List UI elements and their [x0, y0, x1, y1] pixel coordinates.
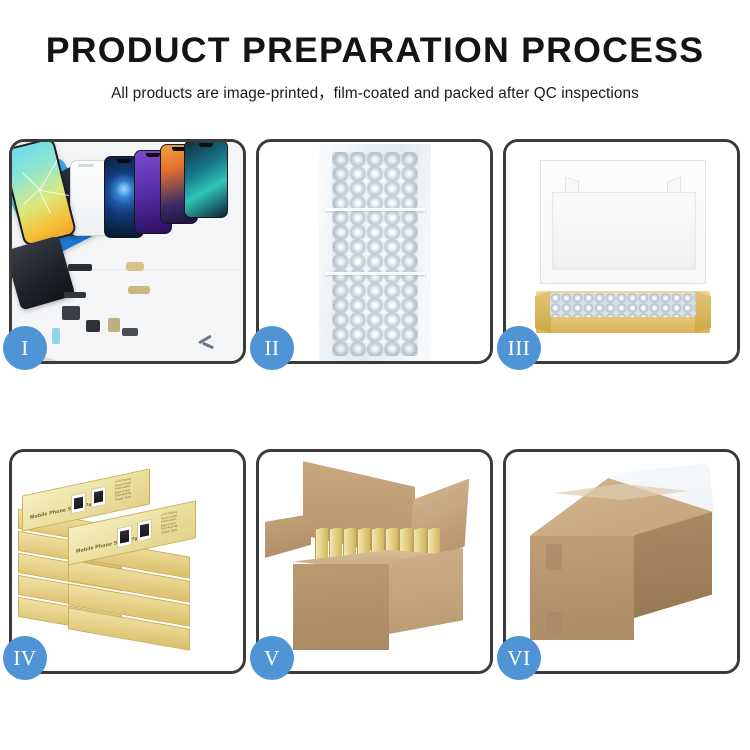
step-panel-6[interactable]: VI	[503, 449, 740, 674]
box-phone-image-4	[137, 519, 152, 542]
step-4-image: Mobile Phone Spare Parts LCD DisplayTouc…	[12, 452, 243, 671]
carton-side-face-icon	[389, 548, 463, 634]
camera-module-icon	[62, 306, 80, 320]
bracket-part-icon	[128, 286, 150, 294]
step-badge-1: I	[3, 326, 47, 370]
bubble-wrap-sleeve-icon	[319, 144, 431, 361]
box-phone-image-2	[91, 486, 106, 508]
foam-liner-icon	[552, 192, 696, 270]
wrap-fold-icon	[325, 272, 425, 275]
step-6-image	[506, 452, 737, 671]
step-badge-3: III	[497, 326, 541, 370]
product-preparation-infographic: PRODUCT PREPARATION PROCESS All products…	[0, 0, 750, 750]
step-3-image	[506, 142, 737, 361]
step-panel-3[interactable]: III	[503, 139, 740, 364]
step-panel-4[interactable]: Mobile Phone Spare Parts LCD DisplayTouc…	[9, 449, 246, 674]
step-panel-5[interactable]: V	[256, 449, 493, 674]
metal-shield-icon	[108, 318, 120, 332]
notch-icon	[199, 143, 213, 147]
small-part-icon	[122, 328, 138, 336]
vibration-motor-icon	[86, 320, 100, 332]
step-2-image	[259, 142, 490, 361]
connector-part-icon	[64, 292, 86, 298]
tray-end-left-icon	[535, 291, 551, 333]
page-subtitle: All products are image-printed，film-coat…	[0, 81, 750, 103]
step-5-image	[259, 452, 490, 671]
carton-front-face-icon	[293, 564, 389, 650]
battery-cell-icon	[52, 328, 60, 344]
tape-strip-lower-icon	[546, 612, 562, 636]
step-badge-6: VI	[497, 636, 541, 680]
phone-display-teal-icon	[184, 142, 228, 218]
step-badge-4: IV	[3, 636, 47, 680]
box-phone-image-1	[71, 492, 86, 514]
bracket-part-icon	[126, 262, 144, 271]
step-1-image	[12, 142, 243, 361]
step-badge-5: V	[250, 636, 294, 680]
step-panel-1[interactable]: I	[9, 139, 246, 364]
packed-bubble-items-icon	[550, 293, 696, 317]
box-phone-image-3	[117, 525, 132, 548]
tape-strip-upper-icon	[546, 544, 562, 570]
header: PRODUCT PREPARATION PROCESS All products…	[0, 0, 750, 103]
process-steps-grid: I II	[9, 139, 741, 674]
notch-icon	[117, 159, 131, 163]
bubble-wrap-bubbles-icon	[332, 152, 418, 356]
mailer-tray-icon	[536, 291, 710, 333]
step-badge-2: II	[250, 326, 294, 370]
step-panel-2[interactable]: II	[256, 139, 493, 364]
wrap-fold-icon	[325, 208, 425, 211]
tray-end-right-icon	[695, 291, 711, 333]
flex-cable-icon	[68, 264, 92, 271]
page-title: PRODUCT PREPARATION PROCESS	[0, 33, 750, 68]
notch-icon	[146, 153, 160, 157]
